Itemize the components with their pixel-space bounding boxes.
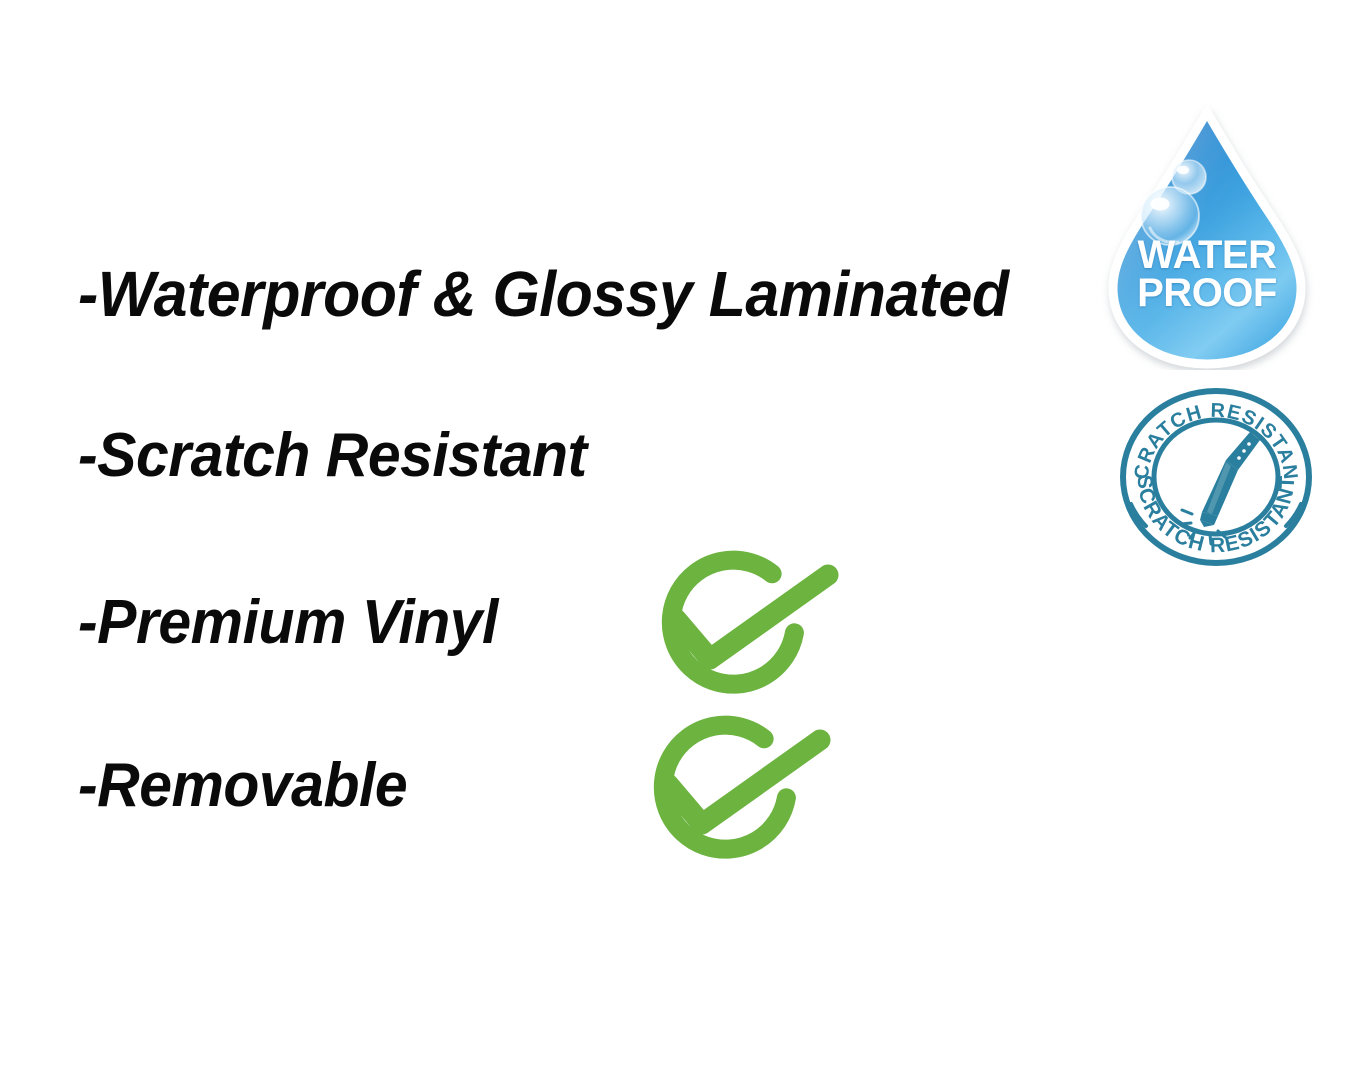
check-stroke	[668, 740, 820, 824]
check-circle-icon	[638, 555, 838, 705]
check-stroke	[676, 575, 828, 659]
feature-item-removable: -Removable	[78, 755, 407, 817]
promo-feature-graphic: -Waterproof & Glossy Laminated -Scratch …	[0, 0, 1359, 1080]
bubble-large-icon	[1141, 187, 1199, 245]
water-drop-sheen	[1113, 112, 1301, 364]
feature-item-scratch-resistant: -Scratch Resistant	[78, 425, 587, 487]
knife-icon	[1200, 432, 1260, 527]
feature-item-premium-vinyl: -Premium Vinyl	[78, 592, 498, 654]
water-drop-icon	[1098, 104, 1316, 370]
waterproof-badge: WATER PROOF	[1098, 104, 1316, 370]
feature-item-waterproof-glossy-laminated: -Waterproof & Glossy Laminated	[78, 262, 1009, 326]
stamp-text-top: SCRATCH RESISTANT	[1118, 384, 1301, 482]
check-circle-icon	[630, 720, 830, 870]
check-removable	[630, 720, 830, 870]
check-premium-vinyl	[638, 555, 838, 705]
scratch-resistant-stamp-icon: SCRATCH RESISTANT SCRATCH RESISTANT	[1118, 384, 1314, 566]
scratch-resistant-badge: SCRATCH RESISTANT SCRATCH RESISTANT	[1118, 384, 1314, 566]
